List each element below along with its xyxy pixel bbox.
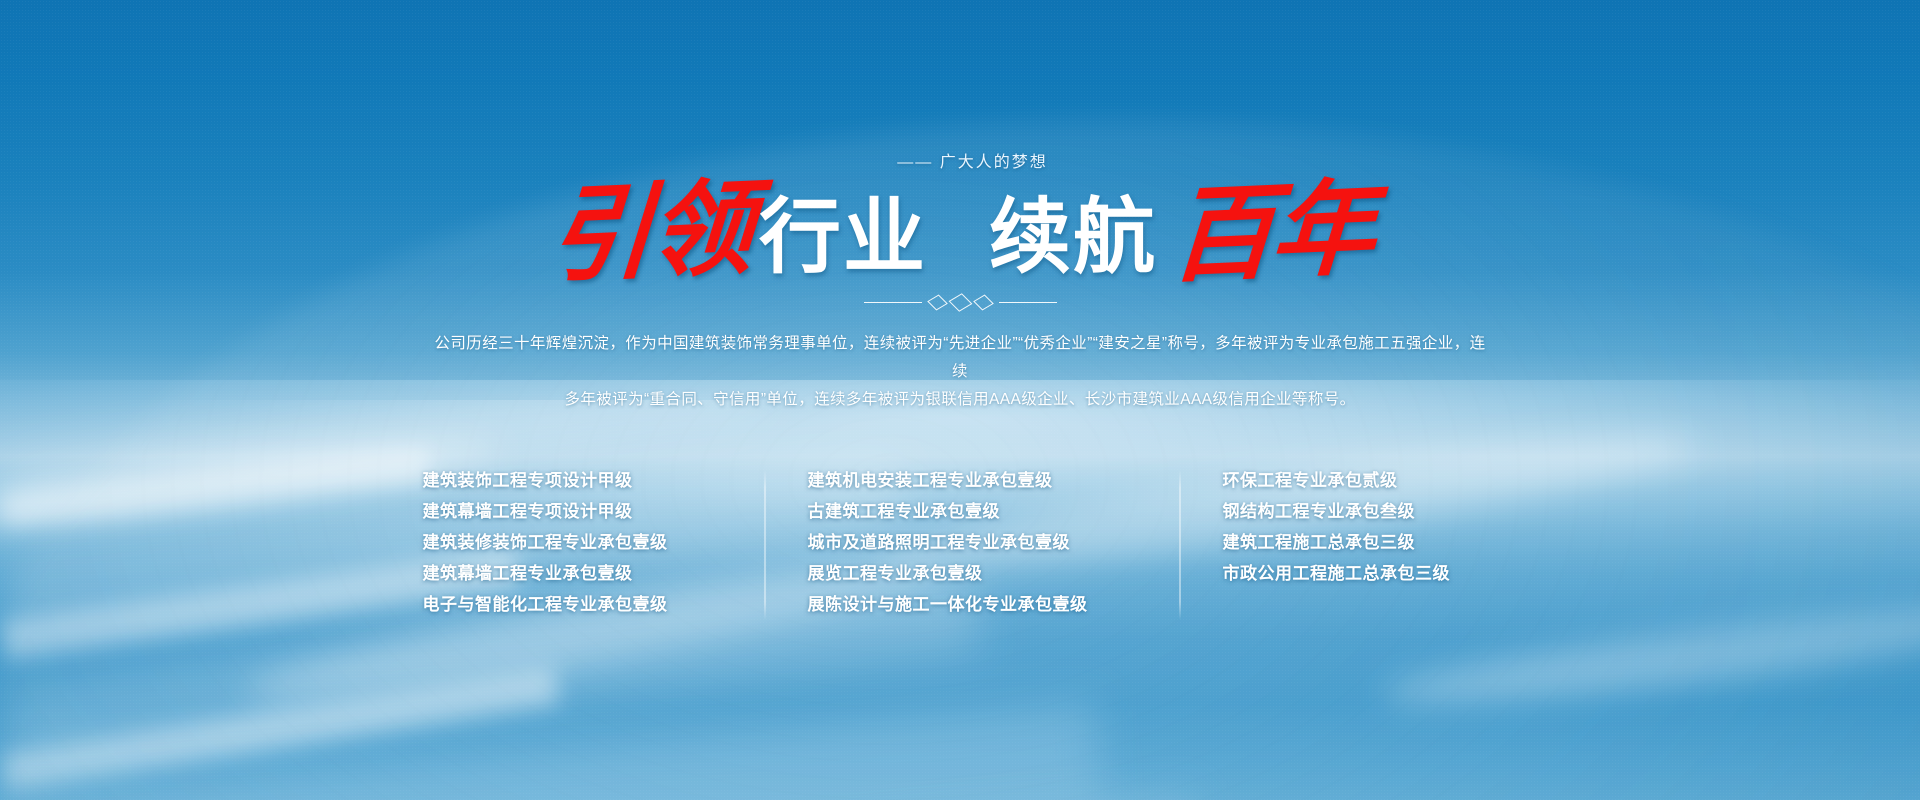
headline-segment-century: 百年 xyxy=(1163,176,1378,289)
list-item: 钢结构工程专业承包叁级 xyxy=(1223,501,1498,523)
list-item: 建筑装饰工程专项设计甲级 xyxy=(423,470,723,492)
company-description: 公司历经三十年辉煌沉淀，作为中国建筑装饰常务理事单位，连续被评为“先进企业”“优… xyxy=(430,330,1490,414)
hero-banner: —— 广大人的梦想 引领 行业 续航 百年 公司历经三十年辉煌沉淀，作为中国建筑… xyxy=(0,0,1920,800)
description-line-2: 多年被评为“重合同、守信用”单位，连续多年被评为银联信用AAA级企业、长沙市建筑… xyxy=(430,386,1490,414)
qualification-column-1: 建筑装饰工程专项设计甲级 建筑幕墙工程专项设计甲级 建筑装修装饰工程专业承包壹级… xyxy=(423,470,765,616)
decorative-divider xyxy=(0,295,1920,310)
headline: 引领 行业 续航 百年 xyxy=(0,180,1920,284)
qualification-column-3: 环保工程专业承包贰级 钢结构工程专业承包叁级 建筑工程施工总承包三级 市政公用工… xyxy=(1181,470,1498,585)
list-item: 建筑幕墙工程专业承包壹级 xyxy=(423,563,723,585)
headline-segment-endurance: 续航 xyxy=(983,197,1167,279)
list-item: 市政公用工程施工总承包三级 xyxy=(1223,563,1498,585)
headline-segment-lead: 引领 xyxy=(541,176,756,289)
description-line-1: 公司历经三十年辉煌沉淀，作为中国建筑装饰常务理事单位，连续被评为“先进企业”“优… xyxy=(430,330,1490,386)
list-item: 城市及道路照明工程专业承包壹级 xyxy=(808,532,1138,554)
headline-segment-industry: 行业 xyxy=(753,197,937,279)
divider-line-right xyxy=(999,302,1057,303)
eyebrow-tagline: —— 广大人的梦想 xyxy=(0,148,1920,172)
qualification-column-2: 建筑机电安装工程专业承包壹级 古建筑工程专业承包壹级 城市及道路照明工程专业承包… xyxy=(766,470,1180,616)
list-item: 电子与智能化工程专业承包壹级 xyxy=(423,594,723,616)
list-item: 环保工程专业承包贰级 xyxy=(1223,470,1498,492)
qualification-list: 建筑装饰工程专项设计甲级 建筑幕墙工程专项设计甲级 建筑装修装饰工程专业承包壹级… xyxy=(423,470,1498,620)
list-item: 建筑装修装饰工程专业承包壹级 xyxy=(423,532,723,554)
diamond-icon xyxy=(973,294,994,310)
list-item: 建筑工程施工总承包三级 xyxy=(1223,532,1498,554)
list-item: 展览工程专业承包壹级 xyxy=(808,563,1138,585)
list-item: 建筑幕墙工程专项设计甲级 xyxy=(423,501,723,523)
list-item: 建筑机电安装工程专业承包壹级 xyxy=(808,470,1138,492)
list-item: 展陈设计与施工一体化专业承包壹级 xyxy=(808,594,1138,616)
list-item: 古建筑工程专业承包壹级 xyxy=(808,501,1138,523)
diamond-icon xyxy=(948,293,972,312)
divider-line-left xyxy=(864,302,922,303)
diamond-icon xyxy=(927,294,948,310)
